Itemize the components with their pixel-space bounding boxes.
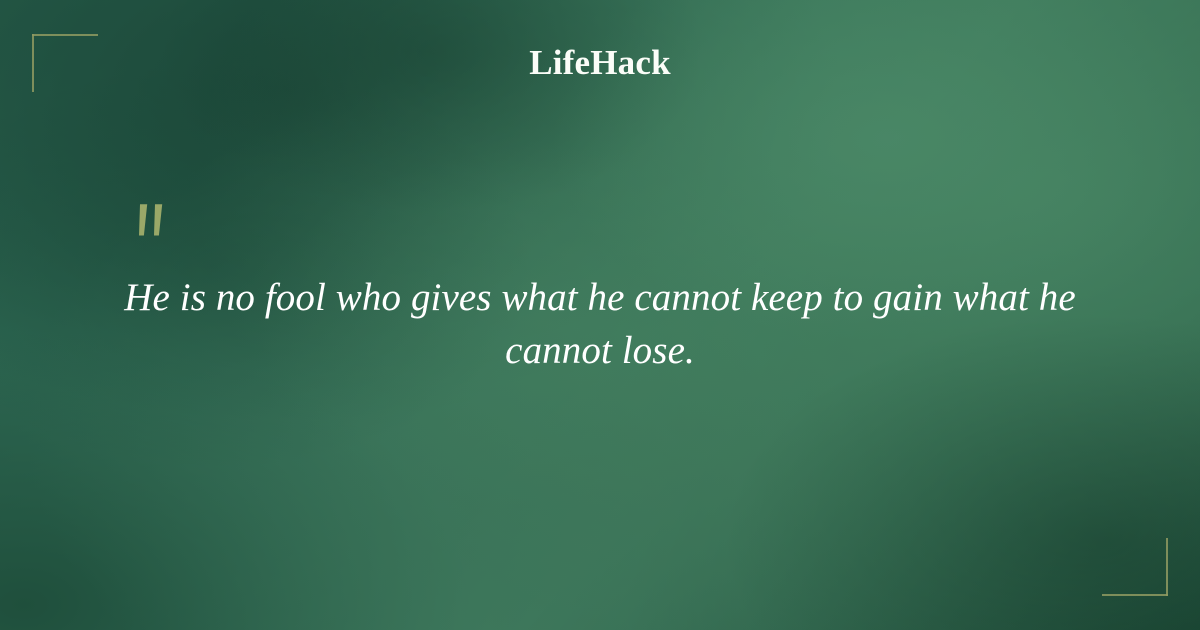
quote-card: LifeHack He is no fool who gives what he… (0, 0, 1200, 630)
double-quote-icon (133, 203, 179, 245)
corner-bracket-bottom-right-icon (1102, 538, 1168, 596)
brand-logo: LifeHack (0, 43, 1200, 83)
quote-text: He is no fool who gives what he cannot k… (96, 271, 1104, 377)
bracket-arm-horizontal (32, 34, 98, 36)
quote-container: He is no fool who gives what he cannot k… (96, 271, 1104, 377)
bracket-arm-horizontal (1102, 594, 1168, 596)
bracket-arm-vertical (1166, 538, 1168, 596)
